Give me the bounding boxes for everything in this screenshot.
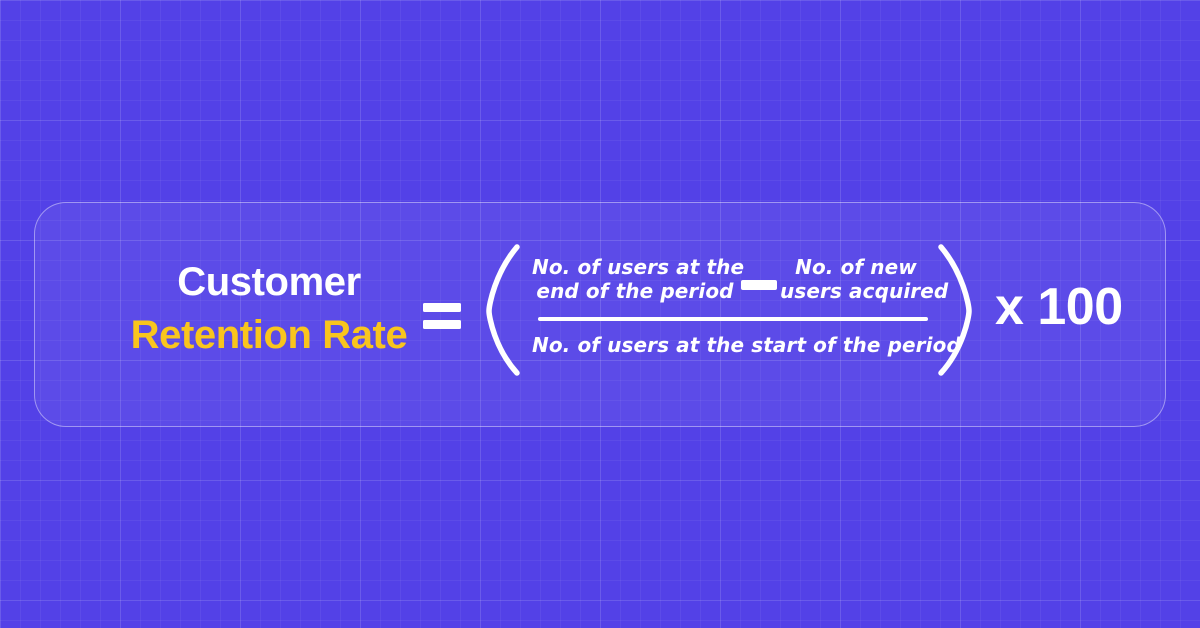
fraction-bar: [538, 317, 928, 321]
fraction-numerator: No. of users at the end of the period No…: [532, 243, 932, 315]
minus-sign-icon: [741, 280, 777, 290]
metric-title-line-2: Retention Rate: [119, 314, 419, 357]
numerator-term-2-line-1: No. of new: [780, 255, 932, 279]
equals-bar-bottom: [423, 320, 461, 329]
equals-bar-top: [423, 303, 461, 312]
fraction-group: No. of users at the end of the period No…: [532, 243, 932, 377]
metric-title-line-1: Customer: [119, 261, 419, 304]
numerator-term-2: No. of new users acquired: [780, 255, 932, 304]
open-paren-icon: [483, 243, 525, 377]
numerator-term-2-line-2: users acquired: [780, 279, 932, 303]
equals-sign-icon: [423, 303, 461, 329]
numerator-term-1-line-1: No. of users at the: [532, 255, 738, 279]
metric-title: Customer Retention Rate: [119, 261, 419, 357]
formula-card: Customer Retention Rate No. of users at …: [34, 202, 1166, 427]
multiplier-label: x 100: [995, 281, 1123, 333]
numerator-term-1-line-2: end of the period: [532, 279, 738, 303]
fraction-denominator: No. of users at the start of the period: [532, 333, 932, 357]
numerator-term-1: No. of users at the end of the period: [532, 255, 738, 304]
formula-infographic: Customer Retention Rate No. of users at …: [0, 0, 1200, 628]
